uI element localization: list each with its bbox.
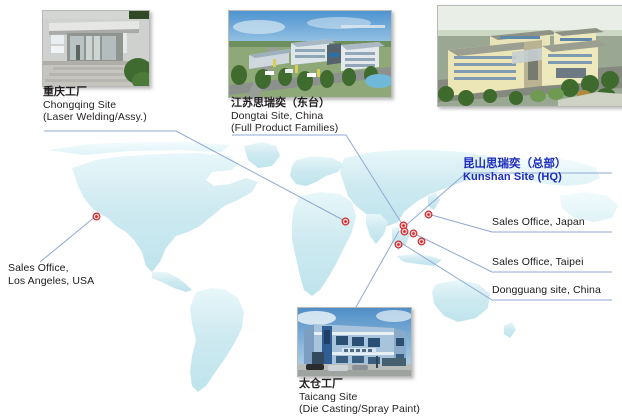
marker-japan[interactable] <box>424 210 433 219</box>
photo-taicang-site[interactable] <box>297 307 412 377</box>
label-dongtai-site: 江苏思瑞奕（东台） Dongtai Site, China (Full Prod… <box>231 97 338 135</box>
photo-chongqing-site[interactable] <box>42 10 150 87</box>
leader-taicang <box>356 231 399 307</box>
label-sales-office-taipei: Sales Office, Taipei <box>492 256 584 269</box>
label-kunshan-en: Kunshan Site (HQ) <box>463 171 567 185</box>
marker-los-angeles[interactable] <box>92 212 101 221</box>
photo-dongtai-site[interactable] <box>228 10 392 98</box>
label-dongtai-en: Dongtai Site, China <box>231 110 338 123</box>
label-taicang-cn: 太仓工厂 <box>299 378 420 391</box>
label-dongguang-site: Dongguang site, China <box>492 284 601 297</box>
label-dongguang-text: Dongguang site, China <box>492 284 601 297</box>
label-los-angeles-line2: Los Angeles, USA <box>8 275 94 288</box>
slide-canvas: 重庆工厂 Chongqing Site (Laser Welding/Assy.… <box>0 0 622 418</box>
label-sales-office-japan: Sales Office, Japan <box>492 216 585 229</box>
label-sales-office-los-angeles: Sales Office, Los Angeles, USA <box>8 262 94 287</box>
label-japan-text: Sales Office, Japan <box>492 216 585 229</box>
leader-los-angeles <box>40 216 96 262</box>
label-taicang-en: Taicang Site <box>299 391 420 404</box>
label-dongtai-cn: 江苏思瑞奕（东台） <box>231 97 338 110</box>
label-chongqing-en: Chongqing Site <box>43 99 147 112</box>
label-kunshan-cn: 昆山思瑞奕（总部） <box>463 157 567 171</box>
marker-chongqing[interactable] <box>341 217 350 226</box>
label-taipei-text: Sales Office, Taipei <box>492 256 584 269</box>
photo-kunshan-headquarters[interactable] <box>437 5 622 107</box>
label-taicang-detail: (Die Casting/Spray Paint) <box>299 403 420 416</box>
label-kunshan-hq: 昆山思瑞奕（总部） Kunshan Site (HQ) <box>463 157 567 184</box>
leader-chongqing <box>44 131 345 221</box>
leader-dongtai <box>232 135 404 227</box>
label-taicang-site: 太仓工厂 Taicang Site (Die Casting/Spray Pai… <box>299 378 420 416</box>
label-chongqing-cn: 重庆工厂 <box>43 86 147 99</box>
label-dongtai-detail: (Full Product Families) <box>231 122 338 135</box>
label-chongqing-site: 重庆工厂 Chongqing Site (Laser Welding/Assy.… <box>43 86 147 124</box>
label-los-angeles-line1: Sales Office, <box>8 262 94 275</box>
label-chongqing-detail: (Laser Welding/Assy.) <box>43 111 147 124</box>
marker-dongguang[interactable] <box>394 240 403 249</box>
marker-kunshan[interactable] <box>400 227 409 236</box>
marker-taipei[interactable] <box>417 237 426 246</box>
